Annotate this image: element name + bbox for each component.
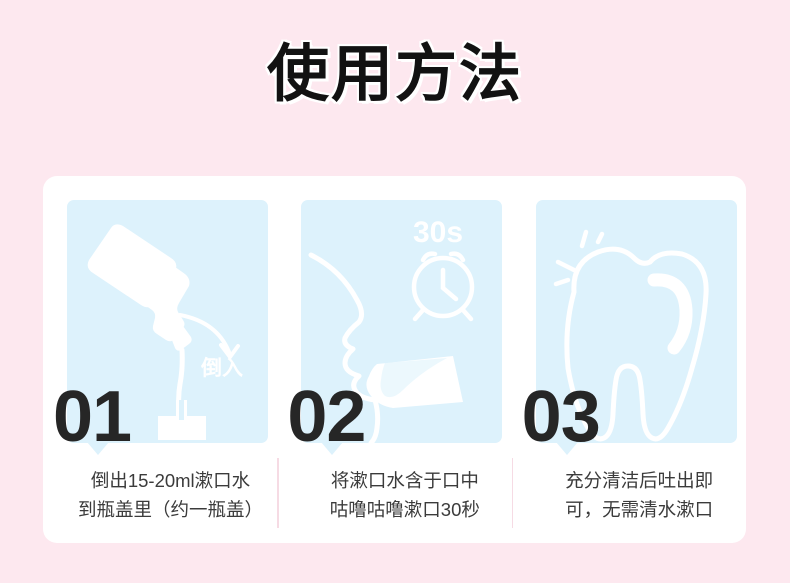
step-panel-01: 倒入 01 倒出15-20ml漱口水 到瓶盖里（约一瓶盖）: [43, 176, 277, 543]
bottle-icon: [88, 224, 192, 350]
step-02-caption: 将漱口水含于口中 咕噜咕噜漱口30秒: [297, 467, 512, 524]
step-01-annotation: 倒入: [200, 357, 243, 380]
panel-divider: [277, 458, 279, 528]
sparkle-icon: [556, 232, 602, 284]
bottle-cap-icon: [158, 400, 206, 440]
usage-instructions-page: { "page": { "title": "使用方法", "background…: [0, 0, 790, 583]
step-panel-02: 30s 02 将漱口水含于口中 咕噜咕噜漱口30秒: [277, 176, 511, 543]
alarm-clock-icon: [414, 254, 472, 319]
liquid-stream-icon: [179, 350, 183, 406]
step-02-number: 02: [287, 381, 365, 453]
shine-highlight-icon: [654, 280, 686, 348]
step-01-caption: 倒出15-20ml漱口水 到瓶盖里（约一瓶盖）: [63, 467, 278, 524]
step-01-number: 01: [53, 381, 131, 453]
steps-card: 倒入 01 倒出15-20ml漱口水 到瓶盖里（约一瓶盖）: [43, 176, 746, 543]
panel-divider: [512, 458, 514, 528]
page-title-wrap: 使用方法: [0, 44, 790, 106]
cup-icon: [367, 356, 464, 408]
step-panel-03: 03 充分清洁后吐出即 可，无需清水漱口: [512, 176, 746, 543]
step-03-number: 03: [522, 381, 600, 453]
step-03-caption: 充分清洁后吐出即 可，无需清水漱口: [532, 467, 747, 524]
page-title: 使用方法: [267, 44, 523, 106]
step-02-annotation: 30s: [413, 216, 463, 249]
steps-container: 倒入 01 倒出15-20ml漱口水 到瓶盖里（约一瓶盖）: [43, 176, 746, 543]
